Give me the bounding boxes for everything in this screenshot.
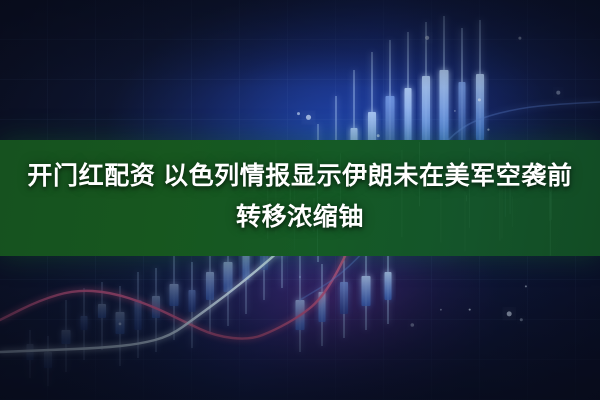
headline-line-2: 转移浓缩铀 [236, 203, 364, 231]
news-thumbnail-image: 开门红配资 以色列情报显示伊朗未在美军空袭前转移浓缩铀 [0, 0, 600, 400]
headline-line-1: 开门红配资 以色列情报显示伊朗未在美军空袭前 [27, 162, 572, 190]
page-title: 开门红配资 以色列情报显示伊朗未在美军空袭前转移浓缩铀 [0, 156, 600, 238]
